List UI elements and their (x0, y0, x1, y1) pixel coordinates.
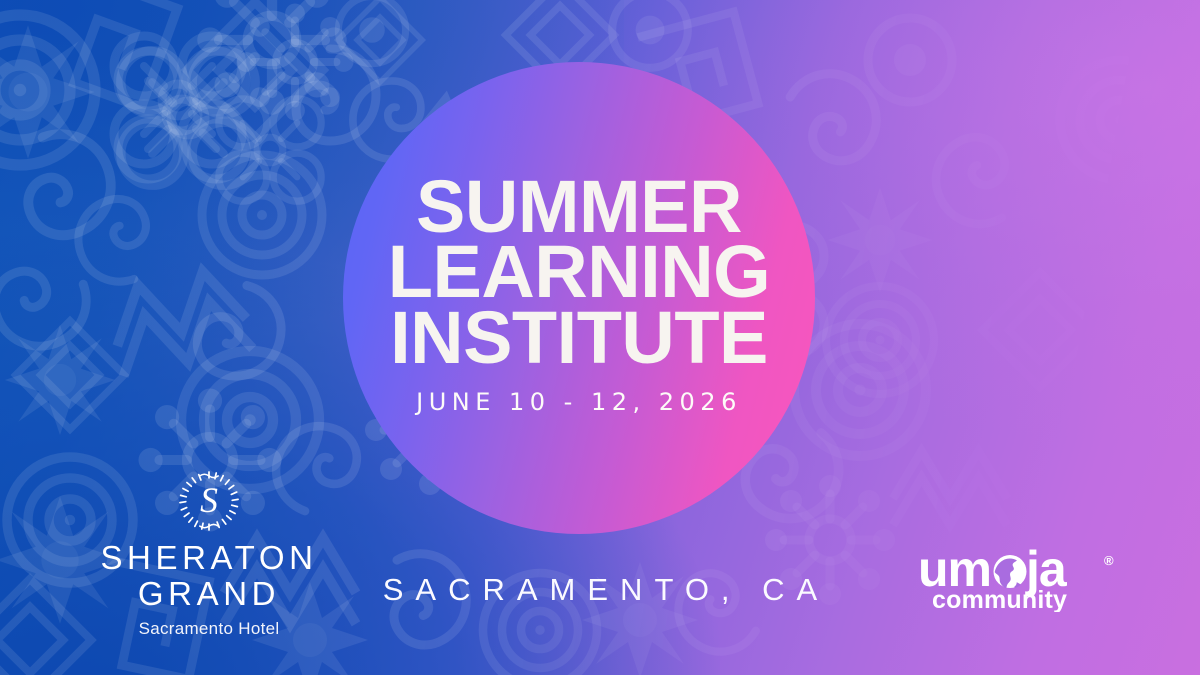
organization-logo: um ja ® community (918, 546, 1128, 612)
venue-subtitle: Sacramento Hotel (84, 619, 334, 639)
sheraton-s-sunburst-icon: S (176, 468, 242, 534)
venue-name-line-1: SHERATON (84, 540, 334, 576)
page-title: SUMMER LEARNING INSTITUTE (369, 174, 789, 369)
event-dates: JUNE 10 - 12, 2026 (416, 388, 742, 416)
svg-text:®: ® (1104, 553, 1114, 568)
hero-circle: SUMMER LEARNING INSTITUTE JUNE 10 - 12, … (343, 62, 815, 534)
svg-text:S: S (200, 480, 218, 520)
event-banner: SUMMER LEARNING INSTITUTE JUNE 10 - 12, … (0, 0, 1200, 675)
title-line-2: LEARNING (369, 239, 789, 304)
svg-text:community: community (932, 586, 1067, 612)
title-line-3: INSTITUTE (369, 305, 789, 370)
venue-logo: S SHERATON GRAND Sacramento Hotel (84, 468, 334, 639)
